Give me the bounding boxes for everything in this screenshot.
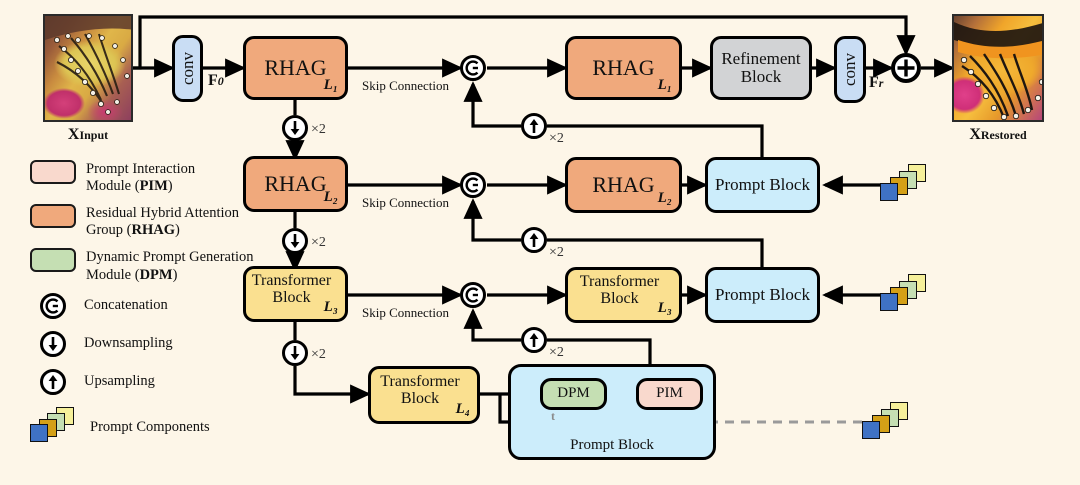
downsample-icon (40, 331, 66, 357)
legend-pim-abbr: PIM (140, 178, 168, 194)
dpm-label: DPM (557, 386, 590, 402)
refinement-block-label: Refinement Block (713, 50, 809, 86)
encoder-rhag-l1-label: RHAG (264, 56, 326, 79)
scale-label-up-2: ×2 (549, 245, 564, 261)
conv-output-block[interactable]: conv (834, 36, 866, 103)
feature-fr-label: Fr (869, 74, 883, 92)
concat-node-level1 (460, 55, 486, 81)
refinement-block[interactable]: Refinement Block (710, 36, 812, 100)
scale-label-down-2: ×2 (311, 235, 326, 251)
legend-rhag-abbr: RHAG (132, 222, 176, 238)
scale-label-up-3: ×2 (549, 345, 564, 361)
legend: Prompt Interaction Module (PIM) Residual… (30, 160, 280, 450)
legend-item-downsampling: Downsampling (30, 331, 280, 357)
scale-label-down-3: ×2 (311, 347, 326, 363)
legend-upsampling-label: Upsampling (84, 369, 155, 390)
prompt-block-level3[interactable]: Prompt Block (705, 267, 820, 323)
upsample-node-1 (521, 113, 547, 139)
prompt-components-icon-level3 (880, 274, 932, 314)
input-image-caption: XInput (43, 126, 133, 144)
decoder-rhag-l2-level: L₂ (658, 191, 672, 207)
legend-dpm-abbr: DPM (140, 267, 173, 283)
skip-label-l3: Skip Connection (362, 305, 449, 321)
decoder-rhag-l2[interactable]: RHAG L₂ (565, 157, 682, 213)
legend-dpm-line1: Dynamic Prompt Generation (86, 249, 254, 265)
scale-label-down-1: ×2 (311, 122, 326, 138)
rhag-swatch (30, 204, 76, 228)
encoder-transformer-l4-level: L₄ (456, 402, 470, 418)
prompt-feedback-t-label: t (551, 409, 555, 424)
output-image-caption: XRestored (942, 126, 1054, 144)
output-image (952, 14, 1044, 122)
scale-label-up-1: ×2 (549, 131, 564, 147)
legend-item-dpm: Dynamic Prompt Generation Module (DPM) (30, 248, 280, 283)
concat-icon (40, 293, 66, 319)
decoder-transformer-l3-level: L₃ (658, 301, 672, 317)
downsample-node-3 (282, 340, 308, 366)
decoder-rhag-l1-label: RHAG (592, 56, 654, 79)
feature-f0-label: F0 (208, 72, 224, 90)
output-image-detail (954, 16, 1044, 122)
pim-module[interactable]: PIM (636, 378, 703, 410)
encoder-transformer-l4[interactable]: Transformer Block L₄ (368, 366, 480, 424)
conv-input-block[interactable]: conv (172, 35, 203, 102)
pim-label: PIM (656, 386, 683, 402)
prompt-block-detail-label: Prompt Block (508, 437, 716, 454)
concat-node-level2 (460, 172, 486, 198)
legend-rhag-line1: Residual Hybrid Attention (86, 205, 239, 221)
downsample-node-2 (282, 228, 308, 254)
legend-item-concat: Concatenation (30, 293, 280, 319)
add-node (891, 53, 921, 83)
concat-node-level3 (460, 282, 486, 308)
prompt-block-level2-label: Prompt Block (715, 176, 810, 194)
prompt-components-icon (30, 407, 82, 441)
encoder-rhag-l1[interactable]: RHAG L₁ (243, 36, 348, 100)
legend-item-rhag: Residual Hybrid Attention Group (RHAG) (30, 204, 280, 239)
legend-concat-label: Concatenation (84, 293, 168, 314)
encoder-transformer-l3-level: L₃ (324, 300, 338, 316)
legend-item-prompt-components: Prompt Components (30, 407, 280, 441)
conv-input-label: conv (179, 52, 197, 85)
dpm-swatch (30, 248, 76, 272)
decoder-rhag-l1-level: L₁ (658, 78, 672, 94)
conv-output-label: conv (841, 53, 859, 86)
decoder-rhag-l2-label: RHAG (592, 173, 654, 196)
prompt-components-icon-level2 (880, 164, 932, 204)
upsample-icon (40, 369, 66, 395)
decoder-transformer-l3-label: Transformer Block (568, 274, 671, 308)
encoder-rhag-l1-level: L₁ (324, 78, 338, 94)
legend-downsampling-label: Downsampling (84, 331, 173, 352)
legend-prompt-components-label: Prompt Components (90, 407, 210, 436)
prompt-block-level2[interactable]: Prompt Block (705, 157, 820, 213)
upsample-node-3 (521, 327, 547, 353)
upsample-node-2 (521, 227, 547, 253)
dpm-module[interactable]: DPM (540, 378, 607, 410)
skip-label-l2: Skip Connection (362, 195, 449, 211)
downsample-node-1 (282, 115, 308, 141)
figure-canvas: XInput XRestored conv (0, 0, 1080, 485)
input-image-detail (45, 16, 133, 122)
pim-swatch (30, 160, 76, 184)
legend-item-pim: Prompt Interaction Module (PIM) (30, 160, 280, 195)
prompt-components-icon-detail (862, 402, 914, 442)
input-image (43, 14, 133, 122)
encoder-transformer-l4-label: Transformer Block (371, 374, 469, 408)
encoder-rhag-l2-level: L₂ (324, 190, 338, 206)
legend-pim-line1: Prompt Interaction (86, 161, 195, 177)
decoder-rhag-l1[interactable]: RHAG L₁ (565, 36, 682, 100)
legend-item-upsampling: Upsampling (30, 369, 280, 395)
decoder-transformer-l3[interactable]: Transformer Block L₃ (565, 267, 682, 323)
skip-label-l1: Skip Connection (362, 78, 449, 94)
prompt-block-level3-label: Prompt Block (715, 286, 810, 304)
